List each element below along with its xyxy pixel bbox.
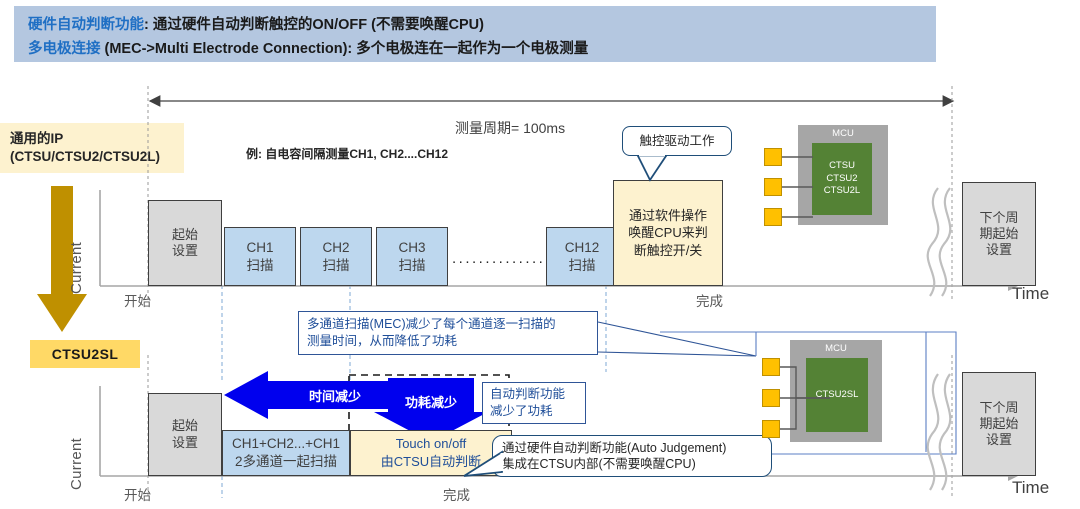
touch-drive-callout-tail-icon	[636, 154, 686, 182]
top-ctsu-core: CTSU CTSU2 CTSU2L	[812, 143, 872, 215]
top-electrode-wires	[780, 145, 820, 233]
power-reduction-label: 功耗减少	[376, 392, 486, 411]
mec-scan-box: CH1+CH2...+CH1 2多通道一起扫描	[222, 430, 350, 476]
bottom-mcu-title: MCU	[825, 343, 847, 354]
top-chart-y-axis-label: Current	[68, 202, 85, 294]
cycle-duration-label: 测量周期= 100ms	[455, 118, 565, 138]
bottom-electrode-wires-mec	[778, 355, 834, 447]
top-core-line3: CTSU2L	[824, 185, 860, 198]
channel-box-ch3-name: CH3	[398, 239, 425, 257]
auto-touch-line1: Touch on/off	[396, 435, 467, 453]
touch-drive-callout: 触控驱动工作	[622, 126, 732, 156]
channel-box-ch3-sub: 扫描	[399, 257, 426, 275]
mec-benefit-note-line1: 多通道扫描(MEC)减少了每个通道逐一扫描的	[307, 316, 556, 333]
channel-box-ch2-sub: 扫描	[323, 257, 350, 275]
top-initial-setup-box: 起始 设置	[148, 200, 222, 286]
channel-box-ch1-name: CH1	[246, 239, 273, 257]
bottom-initial-setup-line2: 设置	[172, 435, 198, 451]
bottom-next-cycle-line2: 期起始	[979, 416, 1018, 432]
top-tick-start: 开始	[124, 290, 151, 310]
hardware-judgement-callout-tail-icon	[462, 448, 506, 478]
mec-scan-box-line2: 2多通道一起扫描	[235, 453, 337, 471]
mec-scan-box-line1: CH1+CH2...+CH1	[232, 435, 340, 453]
example-label: 例: 自电容间隔测量CH1, CH2....CH12	[246, 145, 448, 162]
hardware-judgement-callout: 通过硬件自动判断功能(Auto Judgement) 集成在CTSU内部(不需要…	[492, 435, 772, 477]
bottom-tick-start: 开始	[124, 484, 151, 504]
top-next-cycle-line1: 下个周	[979, 210, 1018, 226]
hardware-judgement-line1: 通过硬件自动判断功能(Auto Judgement)	[502, 440, 726, 456]
top-core-line1: CTSU	[829, 160, 855, 173]
software-judgement-line3: 断触控开/关	[634, 242, 703, 260]
top-initial-setup-line2: 设置	[172, 243, 198, 259]
auto-judgement-note-line1: 自动判断功能	[490, 386, 565, 403]
bottom-next-cycle-line3: 设置	[986, 432, 1012, 448]
hardware-judgement-line2: 集成在CTSU内部(不需要唤醒CPU)	[502, 456, 696, 472]
top-chart-x-axis-label: Time	[1012, 284, 1049, 304]
channel-box-ch1: CH1 扫描	[224, 227, 296, 286]
software-judgement-line2: 唤醒CPU来判	[628, 224, 707, 242]
channel-box-ch3: CH3 扫描	[376, 227, 448, 286]
mec-benefit-note: 多通道扫描(MEC)减少了每个通道逐一扫描的 测量时间，从而降低了功耗	[298, 311, 598, 355]
channel-box-ch2: CH2 扫描	[300, 227, 372, 286]
channel-box-ch1-sub: 扫描	[247, 257, 274, 275]
channel-box-ch12: CH12 扫描	[546, 227, 618, 286]
channel-ellipsis: ..............	[452, 250, 544, 264]
top-tick-end: 完成	[696, 290, 723, 310]
bottom-next-cycle-line1: 下个周	[979, 400, 1018, 416]
bottom-break-squiggle-icon	[916, 372, 960, 492]
top-break-squiggle-icon	[916, 186, 960, 298]
bottom-tick-end: 完成	[443, 484, 470, 504]
top-mcu-title: MCU	[832, 128, 854, 139]
channel-box-ch2-name: CH2	[322, 239, 349, 257]
software-judgement-box: 通过软件操作 唤醒CPU来判 断触控开/关	[613, 180, 723, 286]
bottom-chart-y-axis-label: Current	[68, 398, 85, 490]
bottom-initial-setup-line1: 起始	[172, 418, 198, 434]
auto-judgement-note-line2: 减少了功耗	[490, 403, 553, 420]
bottom-chart-x-axis-label: Time	[1012, 478, 1049, 498]
top-next-cycle-line2: 期起始	[979, 226, 1018, 242]
channel-box-ch12-name: CH12	[565, 239, 600, 257]
bottom-next-cycle-box: 下个周 期起始 设置	[962, 372, 1036, 476]
auto-judgement-note: 自动判断功能 减少了功耗	[482, 382, 586, 424]
top-core-line2: CTSU2	[826, 173, 857, 186]
software-judgement-line1: 通过软件操作	[629, 207, 707, 225]
mec-benefit-note-line2: 测量时间，从而降低了功耗	[307, 333, 457, 350]
bottom-initial-setup-box: 起始 设置	[148, 393, 222, 476]
top-next-cycle-line3: 设置	[986, 242, 1012, 258]
top-initial-setup-line1: 起始	[172, 227, 198, 243]
channel-box-ch12-sub: 扫描	[569, 257, 596, 275]
top-next-cycle-box: 下个周 期起始 设置	[962, 182, 1036, 286]
